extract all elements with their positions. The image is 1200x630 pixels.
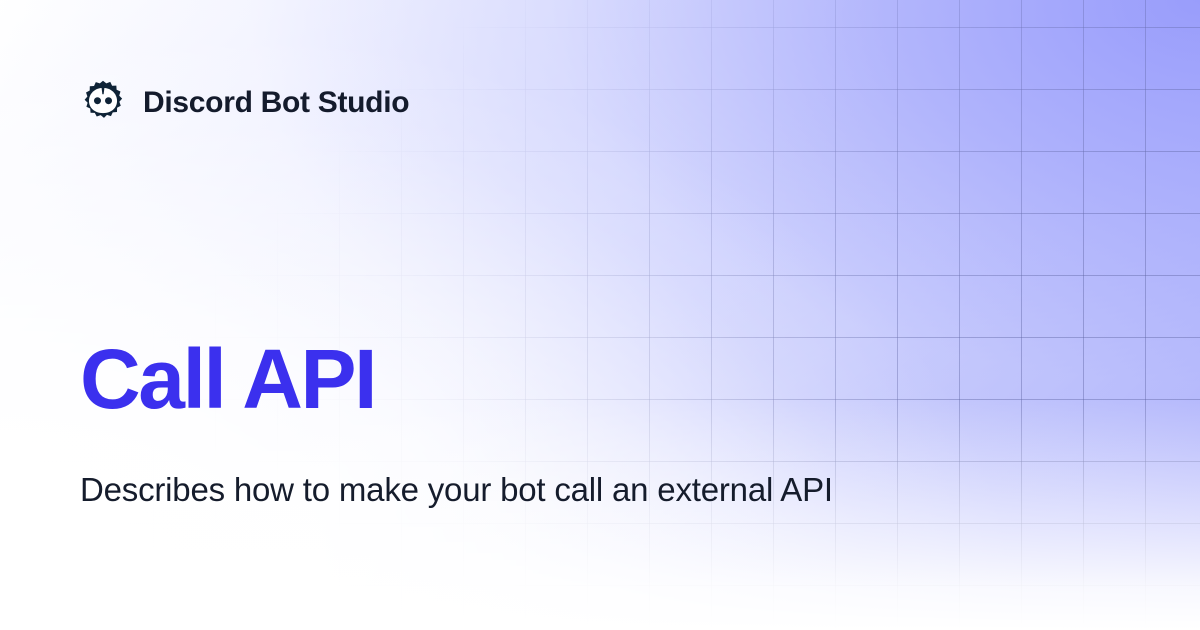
brand-name-label: Discord Bot Studio — [143, 88, 409, 118]
gear-bot-icon — [80, 80, 126, 126]
page-title: Call API — [80, 336, 375, 423]
page-description: Describes how to make your bot call an e… — [80, 468, 880, 512]
banner-content: Discord Bot Studio Call API Describes ho… — [0, 0, 1200, 630]
og-banner-card: Discord Bot Studio Call API Describes ho… — [0, 0, 1200, 630]
brand-lockup: Discord Bot Studio — [80, 80, 409, 126]
